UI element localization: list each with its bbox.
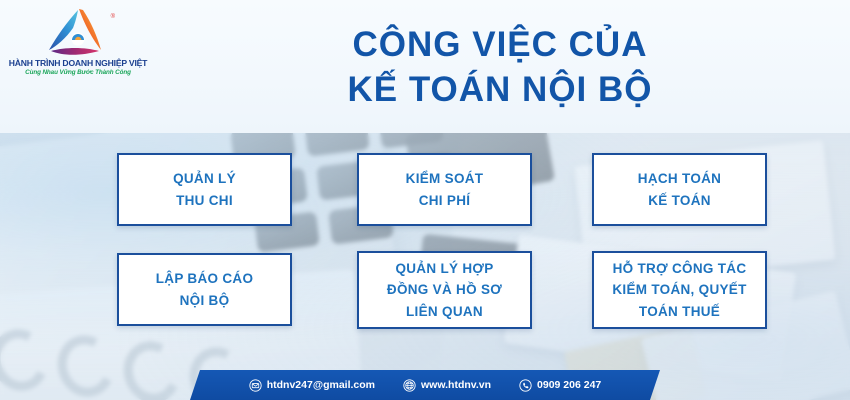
- contact-footer: htdnv247@gmail.com www.htdnv.vn 0909 206…: [0, 370, 850, 400]
- page-title-line-1: CÔNG VIỆC CỦA: [353, 25, 648, 64]
- card-text-line: KẾ TOÁN: [648, 190, 711, 211]
- logo-tagline: Cùng Nhau Vững Bước Thành Công: [8, 69, 148, 76]
- contact-phone[interactable]: 0909 206 247: [519, 379, 601, 392]
- card-text-line: QUẢN LÝ: [173, 168, 236, 189]
- card-text-line: KIỂM SOÁT: [406, 168, 484, 189]
- contact-website-text: www.htdnv.vn: [421, 379, 491, 391]
- task-card-grid: QUẢN LÝ THU CHI KIỂM SOÁT CHI PHÍ HẠCH T…: [0, 133, 850, 400]
- task-card-kiem-soat-chi-phi[interactable]: KIỂM SOÁT CHI PHÍ: [357, 153, 532, 226]
- envelope-icon: [249, 379, 262, 392]
- company-logo[interactable]: ® HÀNH TRÌNH DOANH NGHIỆP VIỆT Cùng Nhau…: [8, 6, 148, 90]
- contact-email[interactable]: htdnv247@gmail.com: [249, 379, 375, 392]
- card-text-line: QUẢN LÝ HỢP: [395, 258, 493, 279]
- contact-website[interactable]: www.htdnv.vn: [403, 379, 491, 392]
- page-title-line-2: KẾ TOÁN NỘI BỘ: [347, 70, 652, 109]
- logo-company-name: HÀNH TRÌNH DOANH NGHIỆP VIỆT: [8, 58, 148, 68]
- card-text-line: CHI PHÍ: [419, 190, 471, 211]
- contact-email-text: htdnv247@gmail.com: [267, 379, 375, 391]
- card-text-line: LẬP BÁO CÁO: [156, 268, 254, 289]
- card-text-line: HỖ TRỢ CÔNG TÁC: [613, 258, 747, 279]
- contact-phone-text: 0909 206 247: [537, 379, 601, 391]
- task-card-quan-ly-hop-dong[interactable]: QUẢN LÝ HỢP ĐỒNG VÀ HỒ SƠ LIÊN QUAN: [357, 251, 532, 329]
- logo-swoosh-icon: ®: [35, 6, 121, 56]
- card-text-line: KIỂM TOÁN, QUYẾT: [612, 279, 746, 300]
- card-text-line: NỘI BỘ: [180, 290, 230, 311]
- phone-icon: [519, 379, 532, 392]
- infographic-page: ® HÀNH TRÌNH DOANH NGHIỆP VIỆT Cùng Nhau…: [0, 0, 850, 400]
- globe-icon: [403, 379, 416, 392]
- page-title: CÔNG VIỆC CỦA KẾ TOÁN NỘI BỘ: [170, 8, 830, 126]
- task-card-lap-bao-cao-noi-bo[interactable]: LẬP BÁO CÁO NỘI BỘ: [117, 253, 292, 326]
- contact-banner: htdnv247@gmail.com www.htdnv.vn 0909 206…: [190, 370, 660, 400]
- task-card-quan-ly-thu-chi[interactable]: QUẢN LÝ THU CHI: [117, 153, 292, 226]
- card-text-line: ĐỒNG VÀ HỒ SƠ: [387, 279, 502, 300]
- registered-trademark-symbol: ®: [111, 14, 115, 20]
- card-text-line: HẠCH TOÁN: [638, 168, 721, 189]
- task-card-ho-tro-cong-tac-kiem-toan[interactable]: HỖ TRỢ CÔNG TÁC KIỂM TOÁN, QUYẾT TOÁN TH…: [592, 251, 767, 329]
- card-text-line: THU CHI: [176, 190, 233, 211]
- card-text-line: LIÊN QUAN: [406, 301, 483, 322]
- header-band: ® HÀNH TRÌNH DOANH NGHIỆP VIỆT Cùng Nhau…: [0, 0, 850, 133]
- task-card-hach-toan-ke-toan[interactable]: HẠCH TOÁN KẾ TOÁN: [592, 153, 767, 226]
- card-text-line: TOÁN THUẾ: [639, 301, 720, 322]
